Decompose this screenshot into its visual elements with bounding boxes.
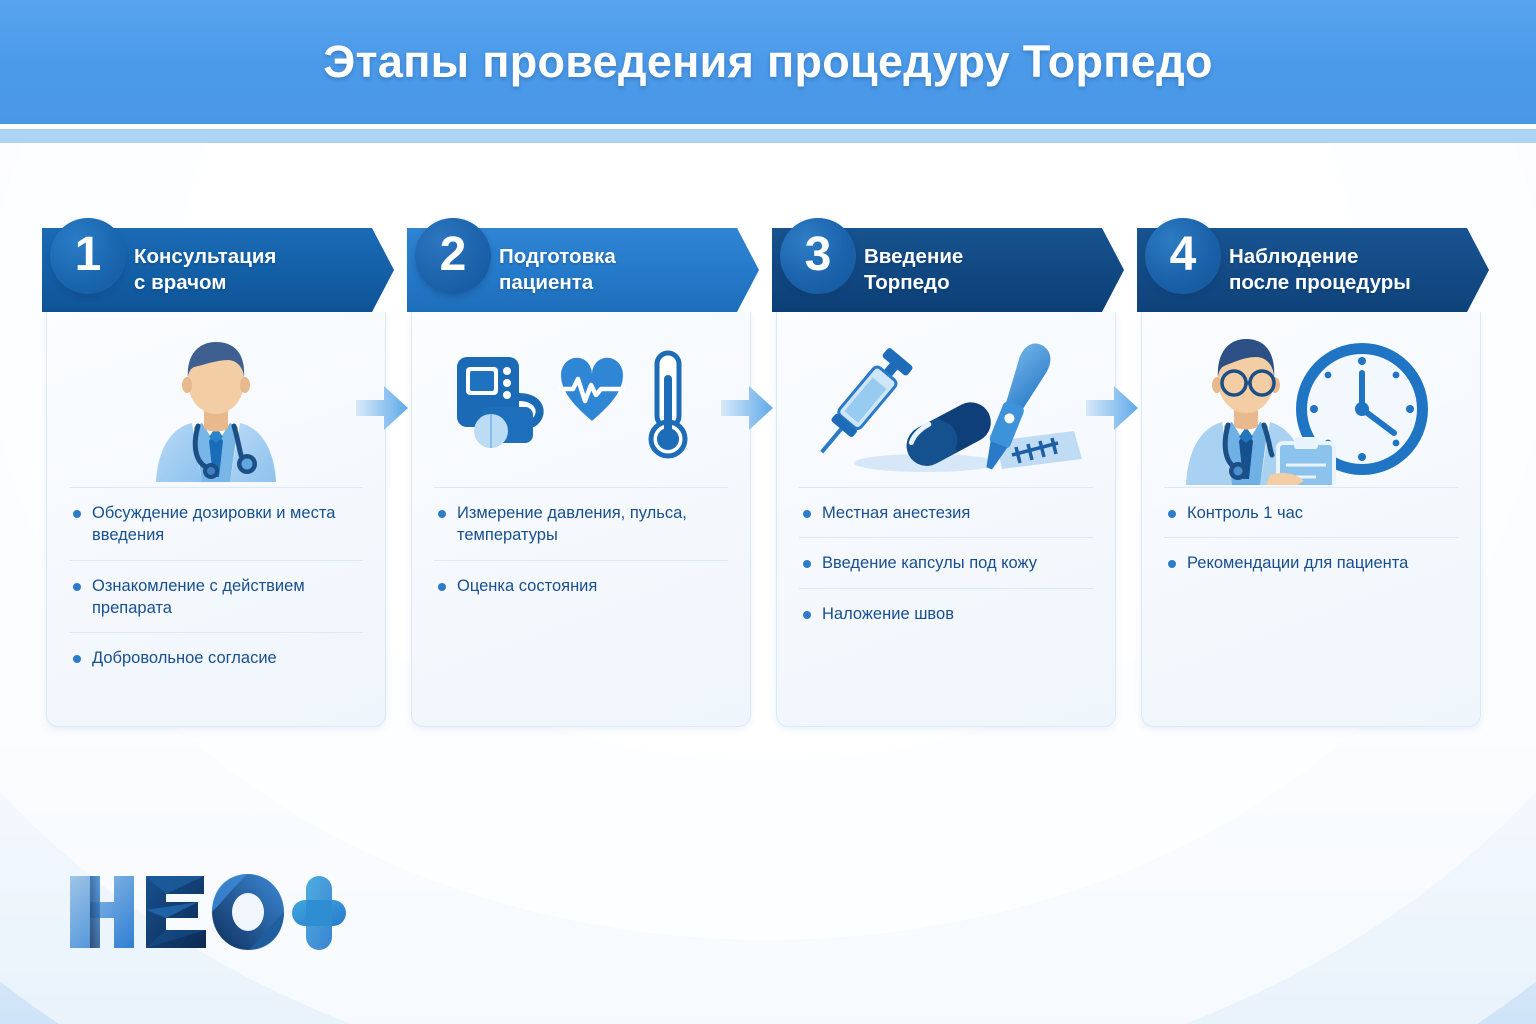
- arrow-step-1-to-2: [354, 383, 410, 433]
- arrow-step-3-to-4: [1084, 383, 1140, 433]
- bullet-item: Обсуждение дозировки и места введения: [69, 487, 363, 560]
- bullet-label: Измерение давления, пульса, температуры: [457, 502, 728, 547]
- step-body-2: Измерение давления, пульса, температуры …: [411, 312, 751, 727]
- infographic-canvas: Этапы проведения процедуру Торпедо Консу…: [0, 0, 1536, 1024]
- bullet-label: Рекомендации для пациента: [1187, 552, 1408, 574]
- step-body-4: Контроль 1 час Рекомендации для пациента: [1141, 312, 1481, 727]
- step-bullets-2: Измерение давления, пульса, температуры …: [412, 487, 750, 632]
- step-number-4: 4: [1170, 231, 1197, 279]
- bullet-item: Местная анестезия: [799, 487, 1093, 537]
- step-badge-3: 3: [780, 218, 856, 294]
- bullet-dot-icon: [1168, 560, 1176, 568]
- bullet-label: Местная анестезия: [822, 502, 970, 524]
- step-badge-1: 1: [50, 218, 126, 294]
- vitals-monitoring-icons: [412, 312, 750, 487]
- bullet-item: Наложение швов: [799, 588, 1093, 638]
- step-title-4: Наблюдение после процедуры: [1229, 244, 1411, 295]
- header-bar: Этапы проведения процедуру Торпедо: [0, 0, 1536, 124]
- bullet-item: Оценка состояния: [434, 560, 728, 610]
- bullet-item: Измерение давления, пульса, температуры: [434, 487, 728, 560]
- bullet-dot-icon: [803, 510, 811, 518]
- bullet-dot-icon: [803, 560, 811, 568]
- bullet-label: Оценка состояния: [457, 575, 597, 597]
- bullet-label: Добровольное согласие: [92, 647, 277, 669]
- bullet-item: Контроль 1 час: [1164, 487, 1458, 537]
- bullet-item: Добровольное согласие: [69, 632, 363, 682]
- step-card-2[interactable]: Подготовка пациента 2: [411, 228, 751, 727]
- heo-plus-logo[interactable]: [66, 868, 346, 959]
- bullet-item: Ознакомление с действием препарата: [69, 560, 363, 633]
- step-number-1: 1: [75, 231, 102, 279]
- step-badge-2: 2: [415, 218, 491, 294]
- step-bullets-3: Местная анестезия Введение капсулы под к…: [777, 487, 1115, 660]
- bullet-dot-icon: [73, 655, 81, 663]
- bullet-label: Введение капсулы под кожу: [822, 552, 1037, 574]
- step-bullets-1: Обсуждение дозировки и места введения Оз…: [47, 487, 385, 704]
- step-bullets-4: Контроль 1 час Рекомендации для пациента: [1142, 487, 1480, 610]
- bullet-label: Контроль 1 час: [1187, 502, 1303, 524]
- step-number-3: 3: [805, 231, 832, 279]
- arrow-step-2-to-3: [719, 383, 775, 433]
- step-number-2: 2: [440, 231, 467, 279]
- step-title-1: Консультация с врачом: [134, 244, 276, 295]
- step-body-3: Местная анестезия Введение капсулы под к…: [776, 312, 1116, 727]
- step-body-1: Обсуждение дозировки и места введения Оз…: [46, 312, 386, 727]
- page-title: Этапы проведения процедуру Торпедо: [323, 36, 1213, 88]
- step-card-4[interactable]: Наблюдение после процедуры 4: [1141, 228, 1481, 727]
- syringe-capsule-scalpel-icons: [777, 312, 1115, 487]
- header-divider-blue: [0, 129, 1536, 143]
- step-card-1[interactable]: Консультация с врачом 1: [46, 228, 386, 727]
- doctor-with-clock-illustration: [1142, 312, 1480, 487]
- bullet-dot-icon: [73, 583, 81, 591]
- bullet-item: Введение капсулы под кожу: [799, 537, 1093, 587]
- step-badge-4: 4: [1145, 218, 1221, 294]
- bullet-dot-icon: [438, 510, 446, 518]
- bullet-label: Ознакомление с действием препарата: [92, 575, 363, 620]
- bullet-dot-icon: [803, 611, 811, 619]
- doctor-illustration: [47, 312, 385, 487]
- bullet-item: Рекомендации для пациента: [1164, 537, 1458, 587]
- bullet-label: Обсуждение дозировки и места введения: [92, 502, 363, 547]
- bullet-dot-icon: [73, 510, 81, 518]
- bullet-label: Наложение швов: [822, 603, 954, 625]
- step-card-3[interactable]: Введение Торпедо 3: [776, 228, 1116, 727]
- bullet-dot-icon: [438, 583, 446, 591]
- step-title-2: Подготовка пациента: [499, 244, 616, 295]
- step-title-3: Введение Торпедо: [864, 244, 963, 295]
- bullet-dot-icon: [1168, 510, 1176, 518]
